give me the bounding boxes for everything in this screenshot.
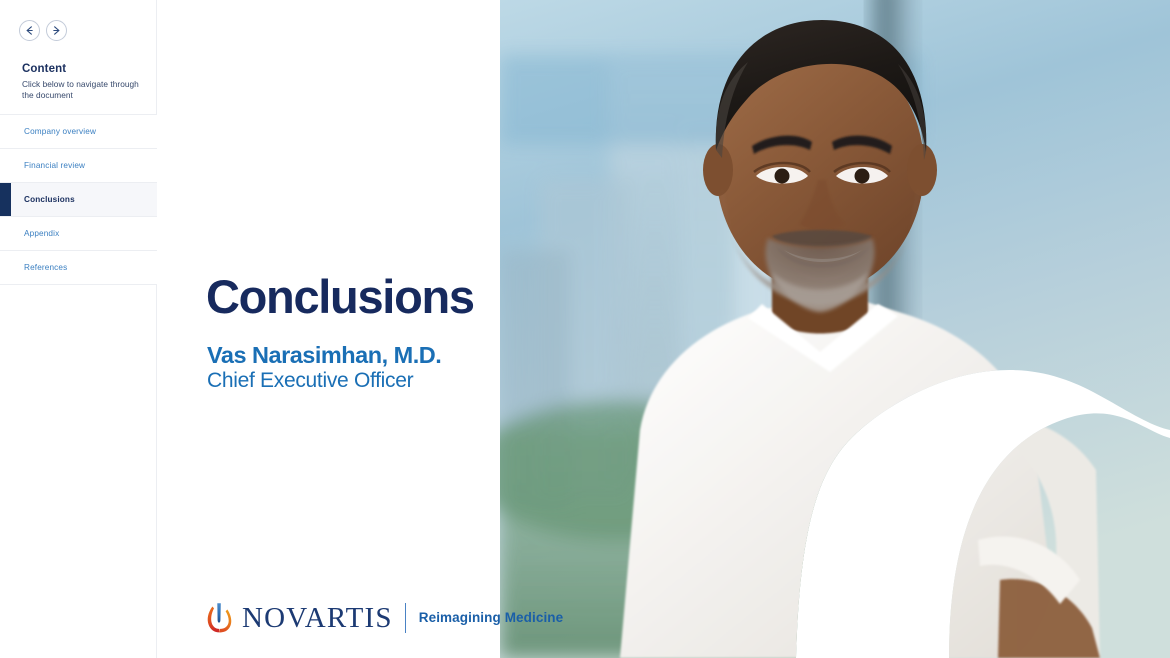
content-title: Content [22,62,147,76]
back-button[interactable] [19,20,40,41]
sidebar-item-appendix[interactable]: Appendix [0,217,157,251]
logo-divider [405,603,406,633]
sidebar-item-label: Financial review [24,161,85,170]
sidebar-item-references[interactable]: References [0,251,157,285]
sidebar-item-label: Company overview [24,127,96,136]
speaker-name: Vas Narasimhan, M.D. [207,341,441,369]
slide-page: Content Click below to navigate through … [0,0,1170,658]
speaker-photo-panel [500,0,1170,658]
content-subtitle: Click below to navigate through the docu… [22,79,147,101]
sidebar: Content Click below to navigate through … [0,0,157,658]
arrow-right-icon [51,25,62,36]
page-title: Conclusions [206,270,474,324]
novartis-flame-icon [206,602,232,634]
navigation-arrows [19,20,67,41]
sidebar-item-conclusions[interactable]: Conclusions [0,183,157,217]
content-menu: Company overview Financial review Conclu… [0,114,157,285]
novartis-logo: NOVARTIS Reimagining Medicine [206,598,563,638]
sidebar-item-company-overview[interactable]: Company overview [0,115,157,149]
forward-button[interactable] [46,20,67,41]
content-header: Content Click below to navigate through … [22,62,147,101]
sidebar-item-label: References [24,263,67,272]
sidebar-item-label: Appendix [24,229,59,238]
arrow-left-icon [24,25,35,36]
speaker-photo [500,0,1170,658]
sidebar-item-label: Conclusions [24,195,75,204]
novartis-tagline: Reimagining Medicine [419,610,564,626]
speaker-role: Chief Executive Officer [207,368,413,394]
sidebar-item-financial-review[interactable]: Financial review [0,149,157,183]
novartis-wordmark: NOVARTIS [242,603,393,633]
